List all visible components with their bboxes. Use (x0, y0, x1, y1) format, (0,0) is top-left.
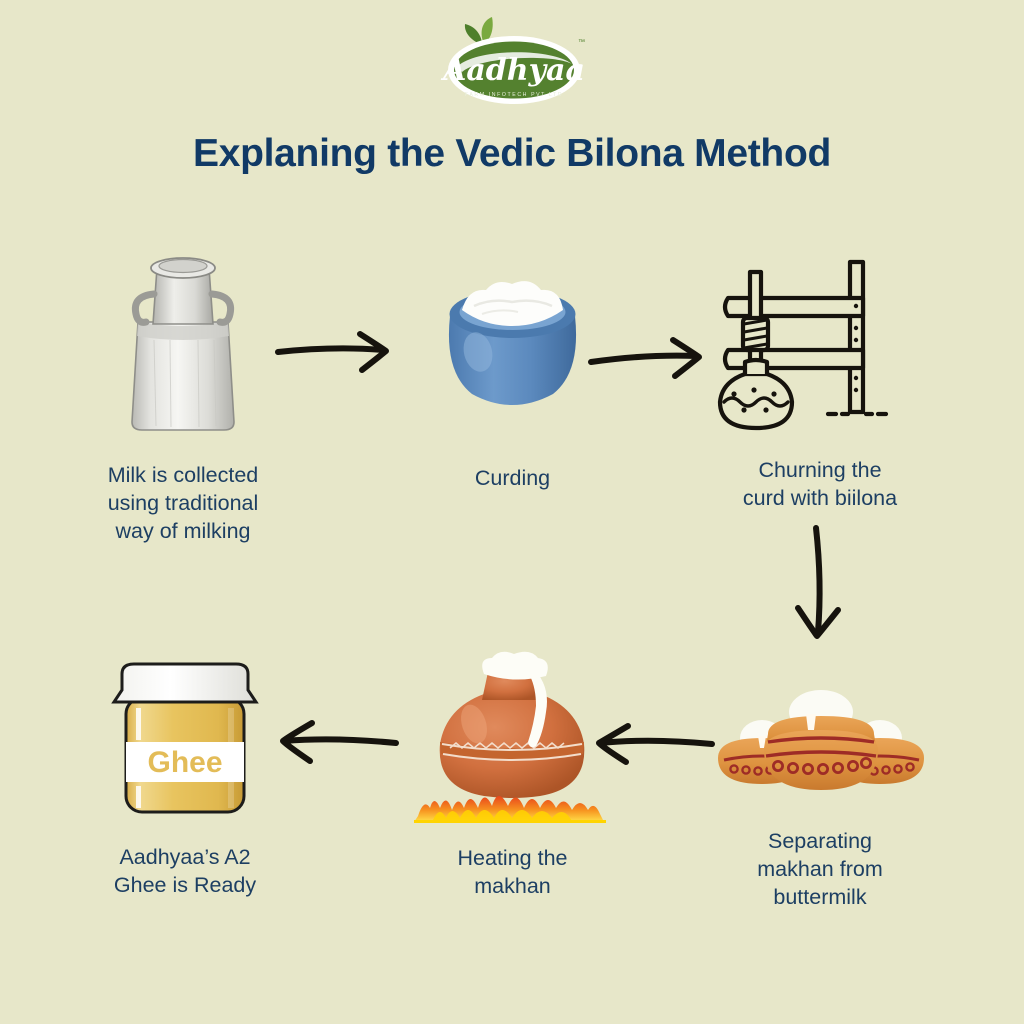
brand-logo: Aadhyaa FARM INFOTECH PVT LTD ™ (0, 14, 1024, 110)
logo-wordmark: Aadhyaa (440, 53, 585, 88)
step-heating-caption: Heating the makhan (400, 844, 625, 900)
makhan-pots-icon (700, 672, 940, 807)
logo-tagline: FARM INFOTECH PVT LTD (465, 92, 563, 98)
step-milk-collection-caption: Milk is collected using traditional way … (58, 461, 308, 545)
step-milk-collection: Milk is collected using traditional way … (58, 244, 308, 545)
milk-can-icon (58, 244, 308, 439)
bilona-churner-icon (700, 244, 940, 434)
arrow-right-icon (272, 322, 402, 387)
infographic-canvas: Aadhyaa FARM INFOTECH PVT LTD ™ Explanin… (0, 0, 1024, 1024)
trademark-mark: ™ (578, 39, 585, 46)
arrow-down-icon (782, 522, 862, 657)
step-curding-caption: Curding (400, 464, 625, 492)
arrow-left-icon (588, 718, 718, 778)
arrow-right-icon (585, 330, 715, 395)
arrow-left-icon (272, 715, 402, 775)
step-churning: Churning the curd with biilona (700, 244, 940, 512)
ghee-jar-label: Ghee (147, 746, 222, 779)
step-churning-caption: Churning the curd with biilona (700, 456, 940, 512)
logo-svg: Aadhyaa FARM INFOTECH PVT LTD ™ (432, 14, 592, 110)
step-separating-caption: Separating makhan from buttermilk (700, 827, 940, 911)
step-separating: Separating makhan from buttermilk (700, 672, 940, 911)
step-ghee-ready-caption: Aadhyaa’s A2 Ghee is Ready (60, 843, 310, 899)
page-title: Explaning the Vedic Bilona Method (0, 132, 1024, 176)
